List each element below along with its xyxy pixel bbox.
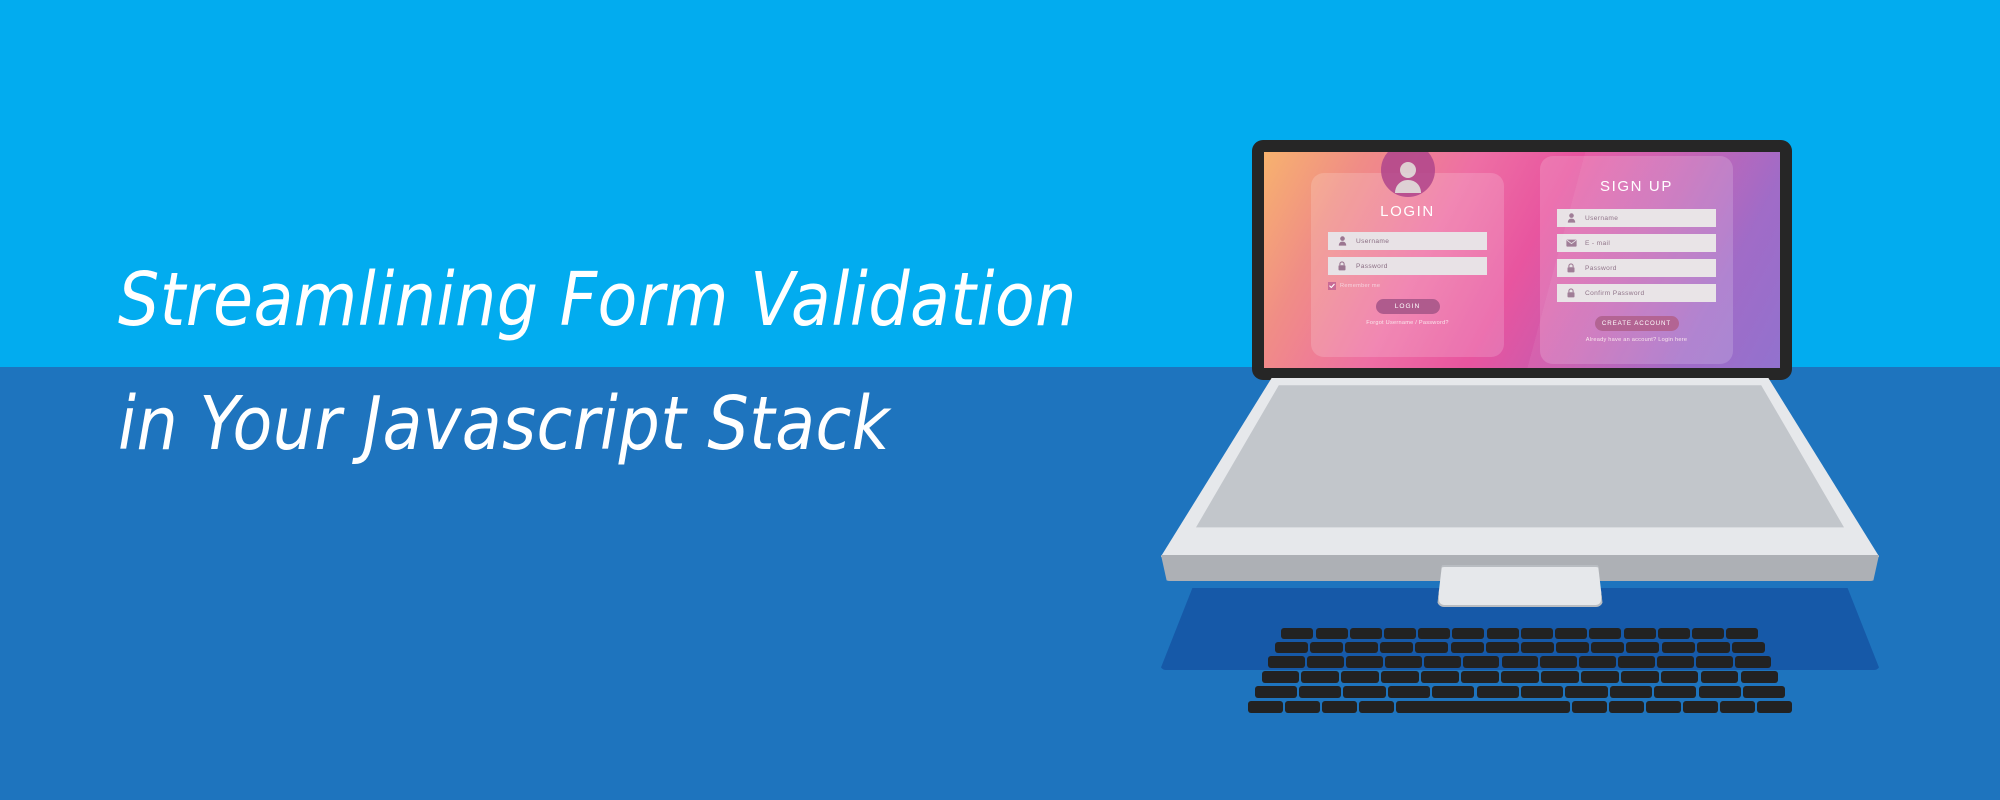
remember-me-label: Remember me <box>1340 283 1380 289</box>
keyboard-key[interactable] <box>1415 642 1448 653</box>
lock-icon <box>1565 262 1577 274</box>
keyboard-key[interactable] <box>1487 628 1519 639</box>
keyboard-key[interactable] <box>1281 628 1313 639</box>
keyboard-key[interactable] <box>1591 642 1624 653</box>
keyboard-key[interactable] <box>1589 628 1621 639</box>
keyboard-key[interactable] <box>1757 701 1792 713</box>
keyboard-key[interactable] <box>1380 642 1413 653</box>
keyboard-key[interactable] <box>1385 656 1422 668</box>
keyboard-key[interactable] <box>1452 628 1484 639</box>
keyboard-key[interactable] <box>1384 628 1416 639</box>
keyboard-key[interactable] <box>1540 656 1577 668</box>
signup-title: SIGN UP <box>1540 178 1733 195</box>
keyboard-key[interactable] <box>1285 701 1320 713</box>
remember-me-row[interactable]: Remember me <box>1328 282 1504 290</box>
keyboard-key[interactable] <box>1346 656 1383 668</box>
signup-password-label: Password <box>1585 265 1617 272</box>
keyboard-key[interactable] <box>1572 701 1607 713</box>
keyboard-key[interactable] <box>1310 642 1343 653</box>
laptop-illustration: LOGIN Username <box>1160 140 1880 670</box>
keyboard-key[interactable] <box>1696 656 1733 668</box>
keyboard-row <box>1268 656 1771 668</box>
keyboard-key[interactable] <box>1502 656 1539 668</box>
keyboard-key[interactable] <box>1432 686 1474 698</box>
keyboard-key[interactable] <box>1732 642 1765 653</box>
remember-me-checkbox[interactable] <box>1328 282 1336 290</box>
keyboard-key[interactable] <box>1451 642 1484 653</box>
keyboard-key[interactable] <box>1646 701 1681 713</box>
keyboard-row <box>1275 642 1765 653</box>
banner-illustration: Streamlining Form Validation in Your Jav… <box>0 0 2000 800</box>
login-username-field[interactable]: Username <box>1328 232 1487 250</box>
keyboard-key[interactable] <box>1726 628 1758 639</box>
keyboard-key[interactable] <box>1692 628 1724 639</box>
already-have-account-link[interactable]: Already have an account? Login here <box>1540 337 1733 343</box>
keyboard-key[interactable] <box>1350 628 1382 639</box>
keyboard-key[interactable] <box>1343 686 1385 698</box>
keyboard-key[interactable] <box>1424 656 1461 668</box>
forgot-credentials-link[interactable]: Forgot Username / Password? <box>1311 320 1504 326</box>
keyboard-key[interactable] <box>1735 656 1772 668</box>
keyboard-key[interactable] <box>1626 642 1659 653</box>
keyboard-key[interactable] <box>1697 642 1730 653</box>
keyboard-key[interactable] <box>1418 628 1450 639</box>
headline-line-2: in Your Javascript Stack <box>118 362 1104 486</box>
envelope-icon <box>1565 237 1577 249</box>
keyboard-key[interactable] <box>1359 701 1394 713</box>
keyboard-key[interactable] <box>1521 642 1554 653</box>
keyboard-row <box>1262 671 1779 683</box>
login-card: LOGIN Username <box>1311 173 1504 357</box>
laptop-screen: LOGIN Username <box>1264 152 1780 368</box>
keyboard-key[interactable] <box>1268 656 1305 668</box>
keyboard-key[interactable] <box>1345 642 1378 653</box>
keyboard-key[interactable] <box>1248 701 1283 713</box>
login-password-field[interactable]: Password <box>1328 257 1487 275</box>
login-username-label: Username <box>1356 238 1389 245</box>
keyboard-key[interactable] <box>1579 656 1616 668</box>
keyboard-key[interactable] <box>1501 671 1539 683</box>
keyboard-row <box>1281 628 1758 639</box>
keyboard-key[interactable] <box>1699 686 1741 698</box>
keyboard-key[interactable] <box>1388 686 1430 698</box>
auth-screen: LOGIN Username <box>1264 152 1780 368</box>
keyboard-key[interactable] <box>1521 628 1553 639</box>
lock-icon <box>1336 260 1348 272</box>
signup-confirm-password-label: Confirm Password <box>1585 290 1644 297</box>
keyboard-key[interactable] <box>1421 671 1459 683</box>
login-title: LOGIN <box>1311 203 1504 220</box>
keyboard-key[interactable] <box>1624 628 1656 639</box>
person-icon <box>1565 212 1577 224</box>
keyboard-key[interactable] <box>1701 671 1739 683</box>
keyboard-key[interactable] <box>1621 671 1659 683</box>
keyboard-key[interactable] <box>1381 671 1419 683</box>
keyboard-key-spacebar[interactable] <box>1396 701 1570 713</box>
login-submit-button[interactable]: LOGIN <box>1376 299 1440 314</box>
keyboard-key[interactable] <box>1609 701 1644 713</box>
keyboard-key[interactable] <box>1610 686 1652 698</box>
keyboard-key[interactable] <box>1658 628 1690 639</box>
keyboard-row <box>1255 686 1786 698</box>
keyboard-keys[interactable] <box>1160 378 1880 558</box>
keyboard-key[interactable] <box>1662 642 1695 653</box>
keyboard-key[interactable] <box>1555 628 1587 639</box>
keyboard-key[interactable] <box>1486 642 1519 653</box>
lock-icon <box>1565 287 1577 299</box>
keyboard-key[interactable] <box>1581 671 1619 683</box>
keyboard-key[interactable] <box>1661 671 1699 683</box>
keyboard-row <box>1248 701 1793 713</box>
keyboard-key[interactable] <box>1316 628 1348 639</box>
keyboard-key[interactable] <box>1654 686 1696 698</box>
keyboard-key[interactable] <box>1275 642 1308 653</box>
signup-card: SIGN UP Username <box>1540 156 1733 364</box>
laptop-lid: LOGIN Username <box>1252 140 1792 380</box>
keyboard-key[interactable] <box>1461 671 1499 683</box>
keyboard-key[interactable] <box>1299 686 1341 698</box>
keyboard-key[interactable] <box>1521 686 1563 698</box>
keyboard-key[interactable] <box>1741 671 1779 683</box>
keyboard-key[interactable] <box>1743 686 1785 698</box>
keyboard-key[interactable] <box>1255 686 1297 698</box>
keyboard-key[interactable] <box>1556 642 1589 653</box>
keyboard-key[interactable] <box>1541 671 1579 683</box>
keyboard-key[interactable] <box>1262 671 1300 683</box>
create-account-button[interactable]: CREATE ACCOUNT <box>1595 316 1679 331</box>
keyboard-key[interactable] <box>1463 656 1500 668</box>
keyboard-key[interactable] <box>1301 671 1339 683</box>
keyboard-key[interactable] <box>1565 686 1607 698</box>
signup-confirm-password-field[interactable]: Confirm Password <box>1557 284 1716 302</box>
signup-username-label: Username <box>1585 215 1618 222</box>
signup-email-field[interactable]: E - mail <box>1557 234 1716 252</box>
keyboard-key[interactable] <box>1618 656 1655 668</box>
keyboard-key[interactable] <box>1477 686 1519 698</box>
person-icon <box>1336 235 1348 247</box>
headline-line-1: Streamlining Form Validation <box>118 238 1104 362</box>
login-password-label: Password <box>1356 263 1388 270</box>
keyboard-key[interactable] <box>1341 671 1379 683</box>
keyboard-key[interactable] <box>1657 656 1694 668</box>
page-title: Streamlining Form Validation in Your Jav… <box>118 238 1238 486</box>
laptop-trackpad[interactable] <box>1437 565 1603 607</box>
signup-username-field[interactable]: Username <box>1557 209 1716 227</box>
keyboard-key[interactable] <box>1683 701 1718 713</box>
signup-password-field[interactable]: Password <box>1557 259 1716 277</box>
keyboard-key[interactable] <box>1720 701 1755 713</box>
keyboard-key[interactable] <box>1307 656 1344 668</box>
user-avatar-icon <box>1381 152 1435 197</box>
keyboard-key[interactable] <box>1322 701 1357 713</box>
signup-email-label: E - mail <box>1585 240 1610 247</box>
